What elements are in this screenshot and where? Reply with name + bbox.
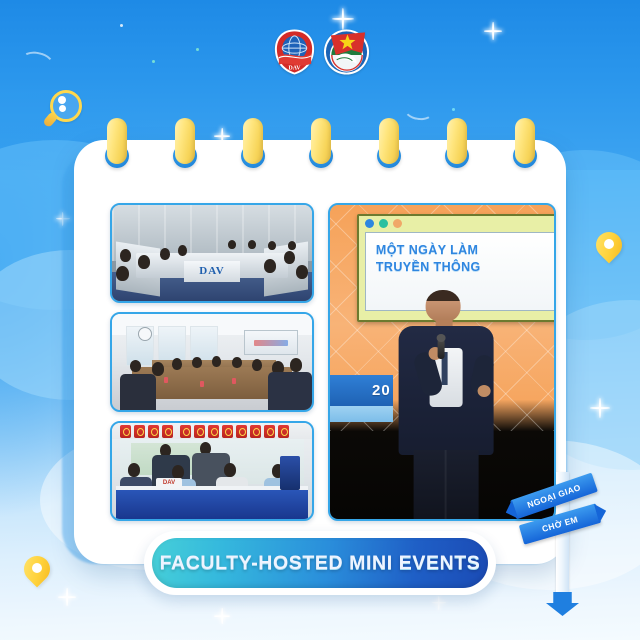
notebook-ring — [104, 118, 130, 173]
notebook-ring — [308, 118, 334, 173]
notebook-ring — [444, 118, 470, 173]
photo-conference-dav[interactable]: DAV — [110, 203, 314, 303]
slide-line-2: TRUYỀN THÔNG — [376, 259, 556, 276]
dav-sign-label: DAV — [163, 480, 175, 486]
logo-group: DAV — [268, 26, 372, 78]
notebook-ring — [512, 118, 538, 173]
poster-canvas: DAV — [0, 0, 640, 640]
signpost: NGOẠI GIAO CHỜ EM — [540, 466, 586, 626]
slide-line-1: MỘT NGÀY LÀM — [376, 242, 556, 259]
sparkle-dot — [452, 108, 455, 111]
stage-banner: 20 — [328, 375, 393, 406]
window-dots-icon — [365, 219, 402, 228]
magnifier-icon — [44, 90, 78, 128]
map-pin-icon — [596, 232, 622, 266]
youth-union-emblem-icon — [322, 27, 371, 77]
sparkle-dot — [196, 48, 199, 51]
signpost-arrow-icon — [546, 592, 579, 616]
notebook-ring — [376, 118, 402, 173]
map-pin-icon — [24, 556, 50, 590]
sparkle-dot — [152, 60, 155, 63]
banner-title-group: FACULTY-HOSTED MINI EVENTS — [152, 538, 488, 588]
banner-pill: FACULTY-HOSTED MINI EVENTS — [152, 538, 488, 588]
speaker-figure — [395, 290, 498, 519]
podium-label: DAV — [199, 265, 224, 277]
photo-speaker-presentation[interactable]: MỘT NGÀY LÀM TRUYỀN THÔNG 20 — [328, 203, 556, 521]
photo-panel-talk[interactable]: DAV — [110, 421, 314, 521]
banner-title: FACULTY-HOSTED MINI EVENTS — [160, 552, 481, 575]
svg-text:DAV: DAV — [288, 66, 301, 72]
notebook-ring — [172, 118, 198, 173]
sparkle-dot — [120, 24, 123, 27]
dav-emblem-icon: DAV — [270, 27, 319, 77]
photo-seminar-room[interactable] — [110, 312, 314, 412]
notebook-ring-row — [74, 118, 566, 178]
notebook-ring — [240, 118, 266, 173]
stage-banner-stripe — [328, 406, 393, 422]
stage-banner-text: 20 — [372, 382, 393, 399]
